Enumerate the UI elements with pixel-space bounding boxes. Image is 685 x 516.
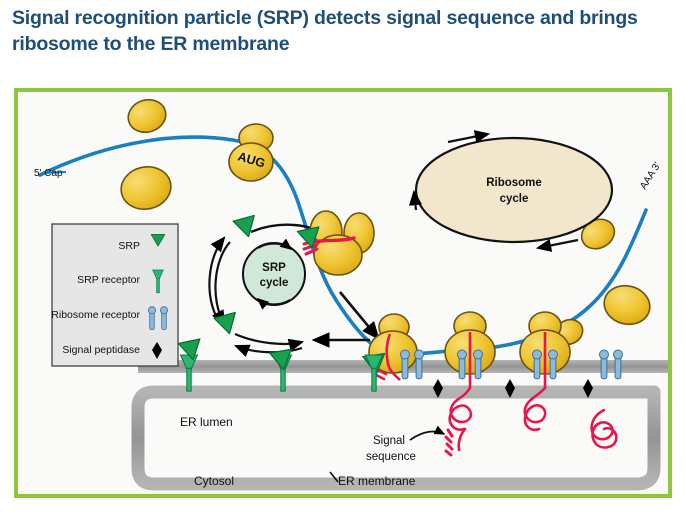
legend-label-srp: SRP: [118, 240, 140, 252]
initiating-ribosome-at-aug: AUG: [229, 124, 273, 181]
folded-protein-in-lumen: [592, 410, 617, 447]
srp-particle: [233, 215, 259, 239]
legend-label-signal-peptidase: Signal peptidase: [62, 344, 140, 356]
poly-a-tail-text: AAA 3': [638, 160, 663, 191]
signal-sequence-text-line2: sequence: [366, 451, 416, 463]
legend-label-srp-receptor: SRP receptor: [77, 274, 140, 286]
srp-cycle-label-line1: SRP: [262, 262, 286, 274]
five-prime-cap-text: 5' Cap: [34, 168, 63, 179]
er-membrane-text: ER membrane: [338, 474, 416, 488]
figure-frame: 5' Cap AAA 3' AUG: [14, 88, 672, 498]
docking-ribosome: [363, 314, 424, 391]
srp-cycle-label-line2: cycle: [260, 277, 289, 289]
er-lumen-label: ER lumen: [180, 415, 233, 429]
signal-sequence-text-line1: Signal: [373, 435, 405, 447]
poly-a-tail-label: AAA 3': [638, 160, 663, 191]
srp-particle: [214, 312, 240, 336]
signal-sequence-label: Signal sequence: [366, 432, 444, 463]
cleaved-signal-sequence: [446, 430, 452, 455]
translocating-ribosome: [445, 312, 495, 388]
five-prime-cap-label: 5' Cap: [34, 168, 66, 179]
srp-cycle-diagram: SRP cycle: [243, 243, 305, 305]
ribosome-cycle-label-line2: cycle: [500, 193, 529, 205]
page-title: Signal recognition particle (SRP) detect…: [12, 6, 672, 57]
ribosome-cycle-label-line1: Ribosome: [486, 177, 542, 189]
srp-bound-ribosome: [297, 211, 374, 275]
legend-box: SRP SRP receptor Ribosome receptor: [51, 224, 178, 366]
legend-label-ribosome-receptor: Ribosome receptor: [51, 309, 140, 321]
cytosol-label: Cytosol: [194, 474, 234, 488]
srp-pathway-diagram: 5' Cap AAA 3' AUG: [18, 92, 668, 494]
free-ribosome-subunit: [124, 95, 170, 137]
er-membrane-label: ER membrane: [330, 472, 416, 488]
free-ribosome-subunit: [117, 162, 175, 213]
